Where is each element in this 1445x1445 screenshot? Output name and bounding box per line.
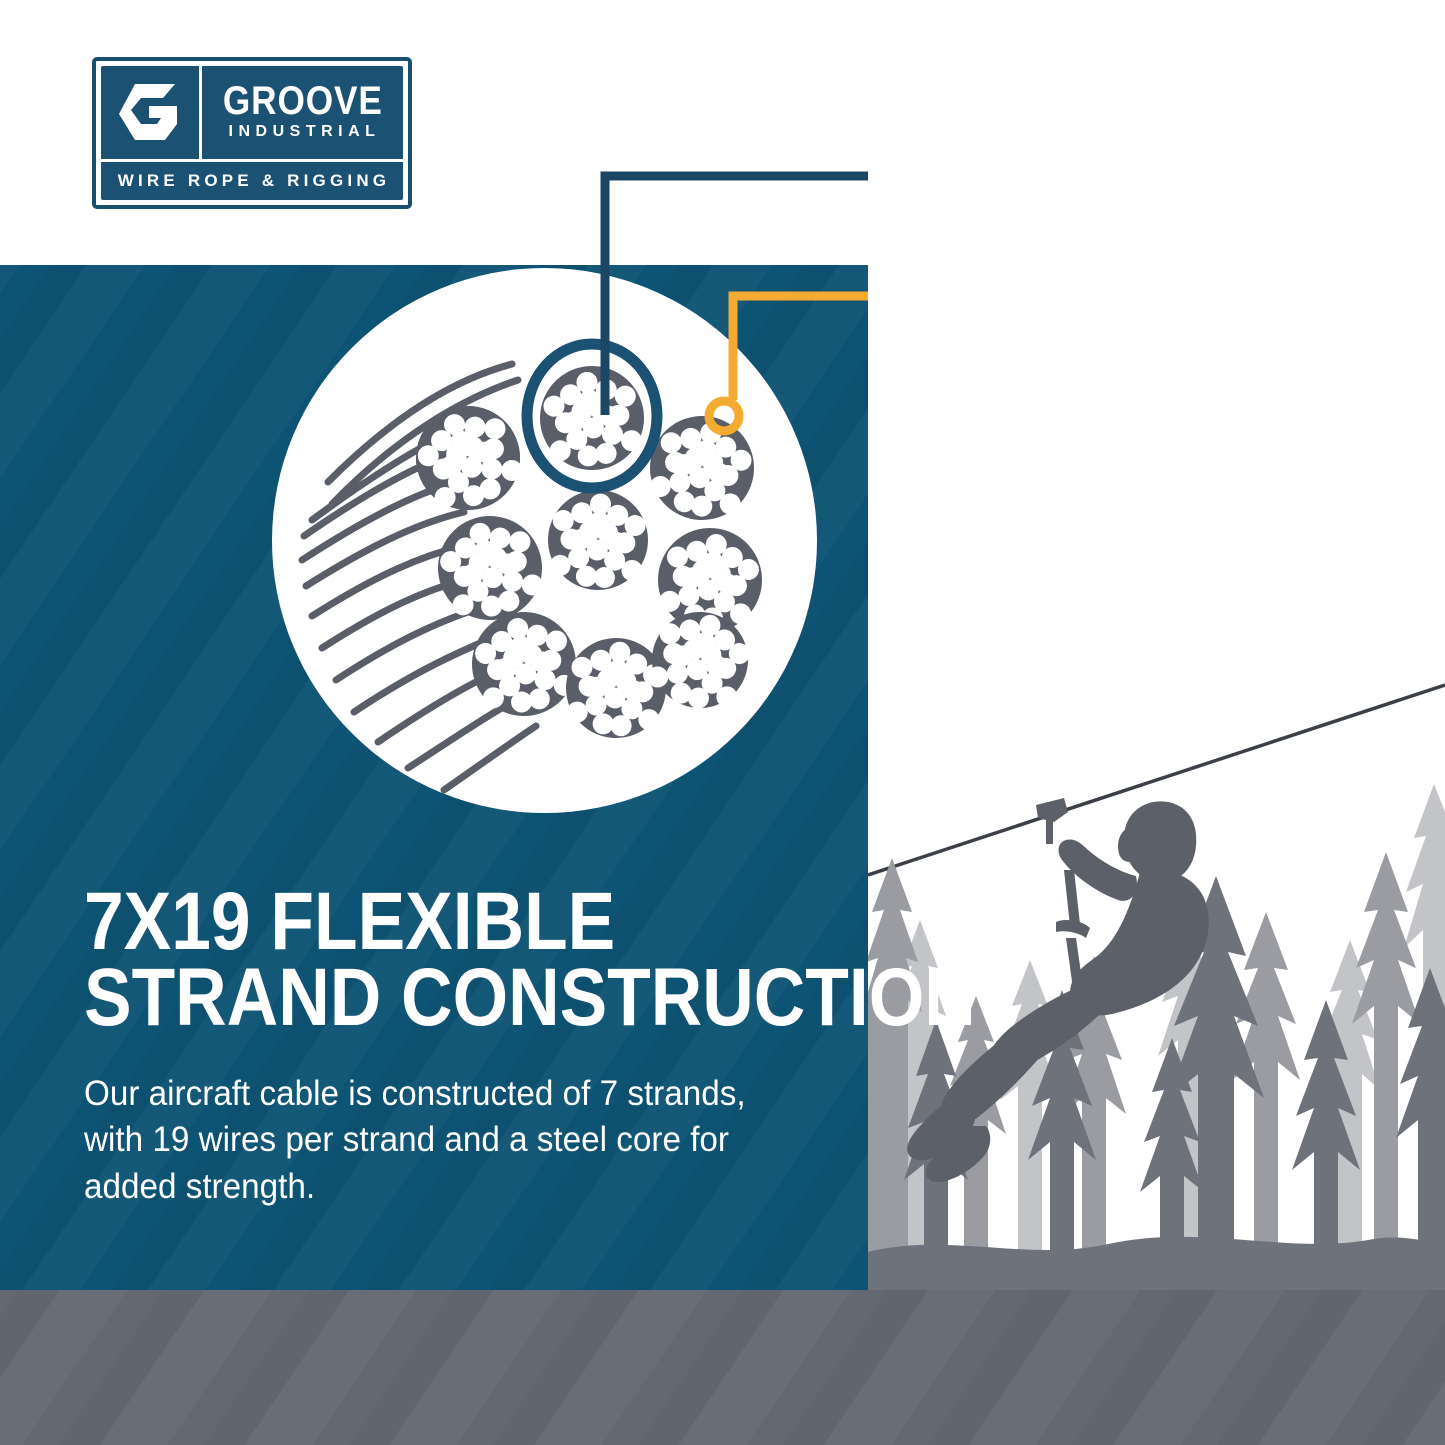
wire-rope-svg bbox=[272, 268, 817, 813]
groove-g-hexagon-icon bbox=[101, 66, 202, 159]
brand-name: GROOVE bbox=[223, 83, 383, 120]
footer-band bbox=[0, 1290, 1445, 1445]
strand-clusters bbox=[400, 359, 770, 743]
headline-line-1: 7X19 FLEXIBLE bbox=[84, 884, 745, 960]
brand-sub: INDUSTRIAL bbox=[225, 120, 381, 144]
footer-wave-texture bbox=[0, 1290, 1445, 1445]
brand-tagline: WIRE ROPE & RIGGING bbox=[114, 171, 390, 191]
brand-logo[interactable]: GROOVE INDUSTRIAL WIRE ROPE & RIGGING bbox=[92, 57, 412, 209]
zipline-scene bbox=[868, 0, 1445, 1290]
zipline-trolley bbox=[1036, 798, 1068, 844]
brand-tagline-bar: WIRE ROPE & RIGGING bbox=[101, 162, 403, 200]
infographic-canvas: 7 STRANDS 19 WIRES PER STRAND HOT DIP GA… bbox=[0, 0, 1445, 1445]
body-copy: Our aircraft cable is constructed of 7 s… bbox=[84, 1071, 778, 1212]
zipline-scene-svg bbox=[868, 0, 1445, 1290]
wire-rope-illustration bbox=[272, 268, 817, 813]
wire-highlight-ring bbox=[709, 401, 739, 431]
headline-block: 7X19 FLEXIBLE STRAND CONSTRUCTION Our ai… bbox=[84, 884, 844, 1211]
headline-line-2: STRAND CONSTRUCTION bbox=[84, 960, 745, 1036]
